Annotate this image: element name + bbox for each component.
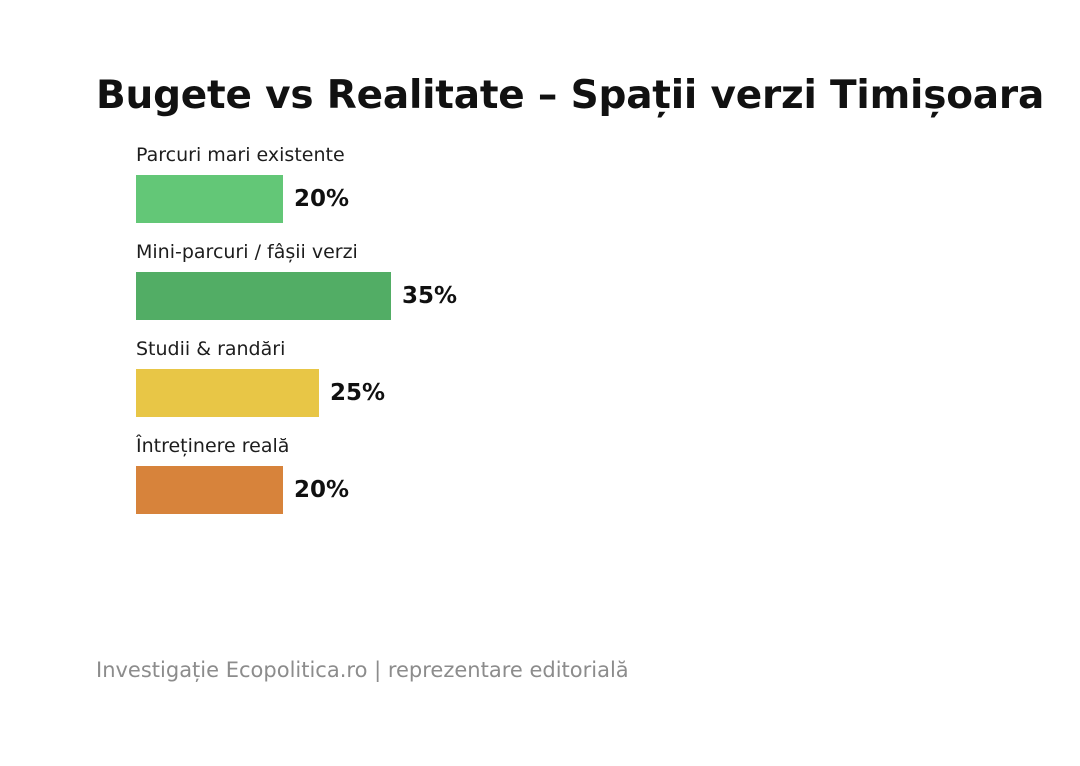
bar-group: Mini-parcuri / fâșii verzi 35% [136,243,1036,321]
bar-value-label: 25% [330,382,385,405]
bar-value-label: 20% [294,479,349,502]
bar-category-label: Studii & randări [136,340,285,359]
bar-rect [136,272,391,320]
bar-group: Studii & randări 25% [136,340,1036,418]
chart-footer-caption: Investigație Ecopolitica.ro | reprezenta… [96,658,629,683]
bar-row: 20% [136,466,349,514]
bar-chart-plot-area: Parcuri mari existente 20% Mini-parcuri … [136,146,1036,526]
bar-rect [136,175,283,223]
bar-category-label: Parcuri mari existente [136,146,345,165]
chart-canvas: Bugete vs Realitate – Spații verzi Timiș… [0,0,1080,766]
bar-row: 25% [136,369,385,417]
bar-category-label: Întreținere reală [136,437,289,456]
bar-group: Întreținere reală 20% [136,437,1036,515]
chart-title: Bugete vs Realitate – Spații verzi Timiș… [96,74,1080,119]
bar-row: 35% [136,272,457,320]
bar-value-label: 20% [294,188,349,211]
bar-category-label: Mini-parcuri / fâșii verzi [136,243,358,262]
bar-rect [136,369,319,417]
bar-row: 20% [136,175,349,223]
bar-group: Parcuri mari existente 20% [136,146,1036,224]
bar-value-label: 35% [402,285,457,308]
bar-rect [136,466,283,514]
